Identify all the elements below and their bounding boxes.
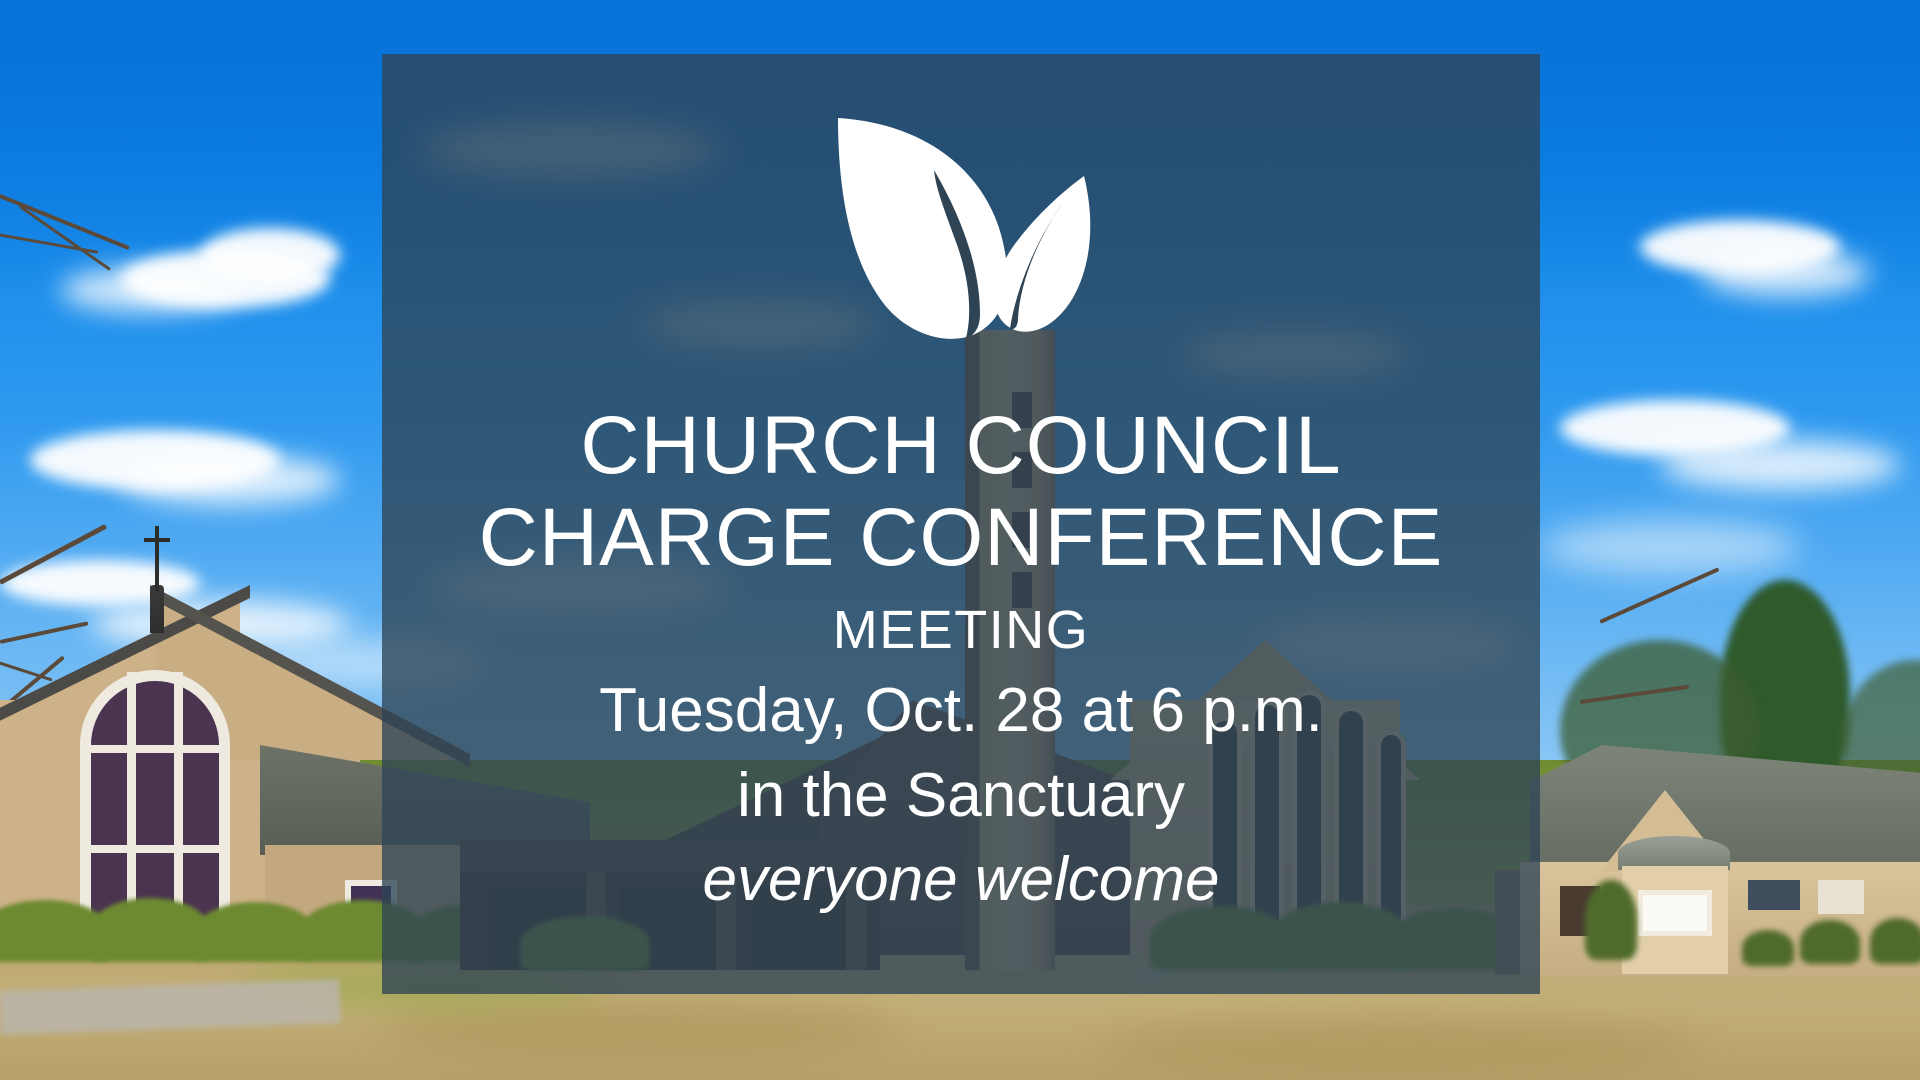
right-building-grid-window xyxy=(1638,890,1712,936)
shrub xyxy=(1742,930,1794,966)
hedge xyxy=(195,902,315,962)
hedge xyxy=(90,898,210,962)
dirt-patch xyxy=(1100,1020,1700,1076)
subtitle-location: in the Sanctuary xyxy=(737,759,1185,833)
cloud xyxy=(1700,250,1870,296)
cloud xyxy=(60,268,240,312)
cross-icon xyxy=(144,538,170,542)
headline-line-2: CHARGE CONFERENCE xyxy=(479,492,1444,584)
right-building-window xyxy=(1818,880,1864,914)
poster-canvas: CHURCH COUNCIL CHARGE CONFERENCE MEETING… xyxy=(0,0,1920,1080)
window-transom xyxy=(82,745,228,753)
right-building-bay-roof xyxy=(1618,836,1730,870)
leaf-sprout-logo xyxy=(766,100,1156,350)
cloud xyxy=(1540,520,1800,574)
cross-icon xyxy=(155,526,159,560)
cloud xyxy=(1660,440,1900,490)
subtitle-date-time: Tuesday, Oct. 28 at 6 p.m. xyxy=(599,674,1323,748)
chapel-spire-finial xyxy=(150,585,164,633)
headline-line-1: CHURCH COUNCIL xyxy=(580,400,1341,492)
shrub xyxy=(1585,880,1637,960)
subtitle-welcome: everyone welcome xyxy=(703,843,1220,917)
cloud xyxy=(120,455,340,505)
subtitle-meeting: MEETING xyxy=(833,598,1090,663)
right-building-window xyxy=(1748,880,1800,910)
window-transom xyxy=(82,845,228,853)
cloud xyxy=(200,228,340,282)
content-overlay-panel: CHURCH COUNCIL CHARGE CONFERENCE MEETING… xyxy=(382,54,1540,994)
shrub xyxy=(1870,918,1920,964)
shrub xyxy=(1800,920,1860,964)
